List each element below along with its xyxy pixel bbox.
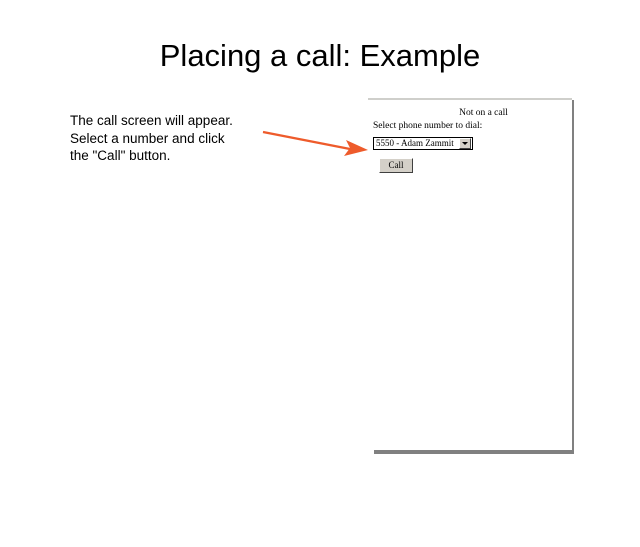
- page-title: Placing a call: Example: [0, 38, 640, 74]
- pointer-arrow-icon: [258, 124, 378, 164]
- instruction-line-1: The call screen will appear.: [70, 112, 270, 130]
- call-screen-screenshot: Not on a call Select phone number to dia…: [368, 98, 572, 450]
- phone-number-label: Select phone number to dial:: [373, 121, 556, 131]
- call-status-text: Not on a call: [373, 108, 556, 118]
- phone-number-select-row: 5550 - Adam Zammit: [373, 133, 556, 151]
- instruction-line-3: the "Call" button.: [70, 147, 270, 165]
- instruction-line-2: Select a number and click: [70, 130, 270, 148]
- chevron-down-icon[interactable]: [459, 138, 471, 149]
- phone-number-selected-value: 5550 - Adam Zammit: [376, 138, 459, 148]
- call-button[interactable]: Call: [379, 158, 413, 173]
- phone-number-select[interactable]: 5550 - Adam Zammit: [373, 137, 473, 150]
- call-screen-content: Not on a call Select phone number to dia…: [368, 100, 561, 450]
- instruction-text: The call screen will appear. Select a nu…: [70, 112, 270, 165]
